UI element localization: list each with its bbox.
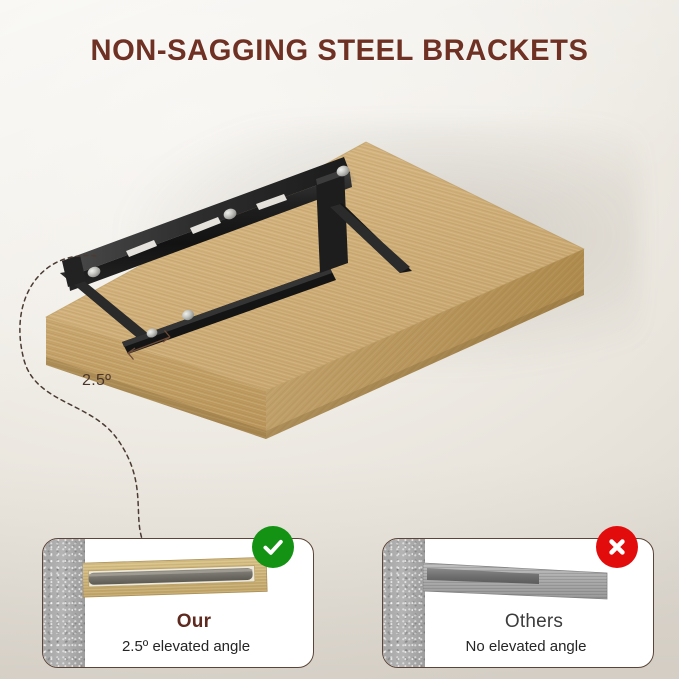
bracket-wall-plate — [316, 169, 412, 273]
angle-label-hero: 2.5º — [82, 372, 111, 390]
bracket-long-arm — [62, 157, 352, 291]
cross-badge — [596, 526, 638, 568]
check-badge — [252, 526, 294, 568]
close-icon — [604, 534, 630, 560]
product-feature-graphic: NON-SAGGING STEEL BRACKETS — [0, 0, 679, 679]
comparison-cards: Our 2.5º elevated angle — [0, 520, 679, 679]
bracket-slots — [126, 194, 287, 257]
check-icon — [260, 534, 286, 560]
bracket-lower-plate — [122, 268, 336, 354]
card-others-label: Others — [423, 611, 645, 633]
hero-scene: 2.5º — [0, 95, 679, 515]
card-our-label: Our — [83, 611, 305, 633]
card-our-sub: 2.5º elevated angle — [67, 638, 305, 655]
card-others-sub: No elevated angle — [407, 638, 645, 655]
wall-mount-steel-bracket — [0, 95, 679, 515]
page-title: NON-SAGGING STEEL BRACKETS — [10, 34, 669, 68]
